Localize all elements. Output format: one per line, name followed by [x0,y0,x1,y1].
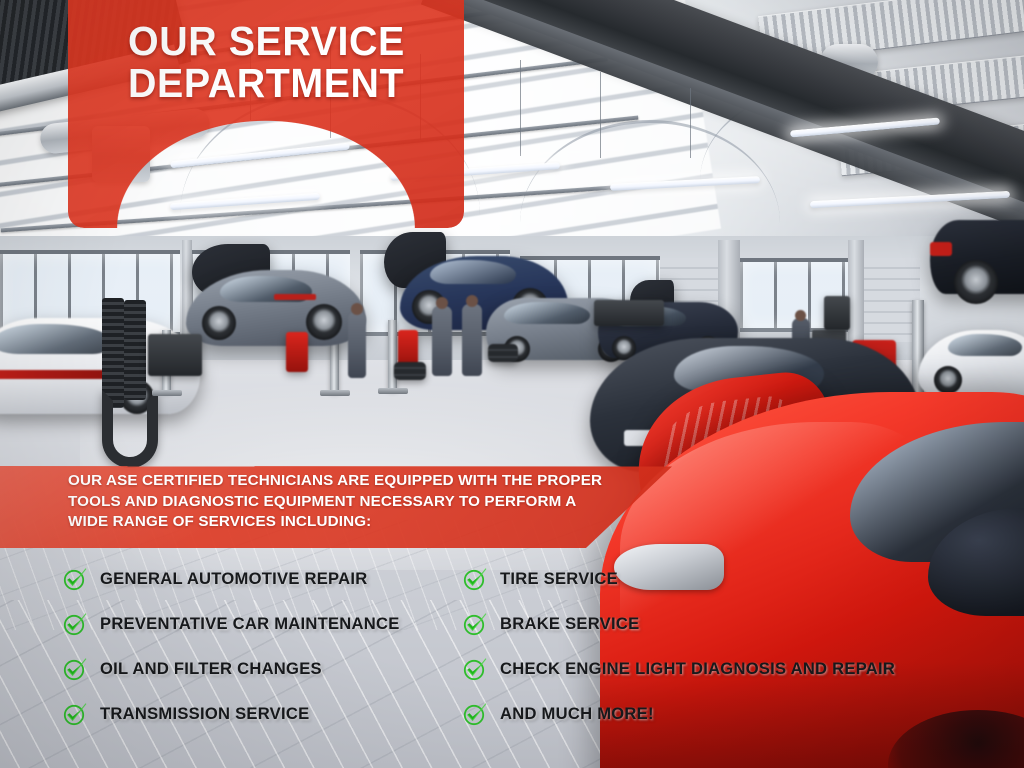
technician-body [462,304,482,376]
page-title-line-1: OUR SERVICE [128,20,445,62]
car-grey-sports-on-lift [186,270,366,346]
duct-hanger [690,88,691,158]
car-window [948,334,1022,356]
car-wheel [954,260,998,304]
duct-hanger [600,72,601,158]
technician-body [432,306,452,376]
green-check-circle-icon [62,611,88,637]
technician [432,306,452,376]
technician [348,312,366,378]
wall-panel [860,258,920,342]
tool-cart-red [286,332,308,372]
technician-head [795,310,806,321]
services-checklist: GENERAL AUTOMOTIVE REPAIR PREVENTATIVE C… [0,556,1024,736]
car-window [504,302,590,324]
technician-head [436,297,448,309]
tire-stack [488,344,518,362]
vehicle-lift-foot [320,390,350,396]
vehicle-lift-foot [152,390,182,396]
list-item-label: OIL AND FILTER CHANGES [100,659,322,679]
technician [462,304,482,376]
list-item-label: BRAKE SERVICE [500,614,639,634]
green-check-circle-icon [462,701,488,727]
list-item-label: AND MUCH MORE! [500,704,654,724]
services-column-left: GENERAL AUTOMOTIVE REPAIR PREVENTATIVE C… [62,556,462,736]
page-title-line-2: DEPARTMENT [128,62,445,104]
tail-light [930,242,952,256]
list-item: BRAKE SERVICE [462,601,1022,646]
car-black-suv-on-lift [930,220,1024,294]
tail-light [274,294,316,300]
tail-light-bar [0,370,112,379]
vehicle-lift-foot [378,388,408,394]
intro-paragraph: OUR ASE CERTIFIED TECHNICIANS ARE EQUIPP… [68,471,608,533]
services-column-right: TIRE SERVICE BRAKE SERVICE [462,556,1022,736]
green-check-circle-icon [462,566,488,592]
vehicle-lift-post [388,320,397,390]
car-white-porsche-right [918,330,1024,398]
green-check-circle-icon [62,566,88,592]
green-check-circle-icon [462,611,488,637]
technician-body [348,312,366,378]
list-item: TIRE SERVICE [462,556,1022,601]
car-wheel [306,304,342,340]
poster-canvas: E3 20 UAJ OUR SERVICE DEPARTMENT OU [0,0,1024,768]
list-item: PREVENTATIVE CAR MAINTENANCE [62,601,462,646]
page-title: OUR SERVICE DEPARTMENT [128,20,445,104]
list-item-label: TIRE SERVICE [500,569,618,589]
list-item: CHECK ENGINE LIGHT DIAGNOSIS AND REPAIR [462,646,1022,691]
car-window [430,260,516,284]
list-item-label: CHECK ENGINE LIGHT DIAGNOSIS AND REPAIR [500,659,895,679]
tool-cart-dark [148,334,202,376]
list-item: OIL AND FILTER CHANGES [62,646,462,691]
green-check-circle-icon [62,701,88,727]
technician-head [351,303,363,315]
exhaust-extraction-hose [124,300,146,400]
car-wheel [934,366,962,394]
list-item: GENERAL AUTOMOTIVE REPAIR [62,556,462,601]
list-item-label: PREVENTATIVE CAR MAINTENANCE [100,614,400,634]
list-item-label: TRANSMISSION SERVICE [100,704,309,724]
car-wheel [202,306,236,340]
equipment-cabinet [824,296,850,330]
green-check-circle-icon [62,656,88,682]
green-check-circle-icon [462,656,488,682]
duct-hanger [520,60,521,156]
tire-stack [394,362,426,380]
technician-head [466,295,478,307]
list-item: TRANSMISSION SERVICE [62,691,462,736]
exhaust-extraction-hose-bend [102,390,158,468]
list-item: AND MUCH MORE! [462,691,1022,736]
list-item-label: GENERAL AUTOMOTIVE REPAIR [100,569,367,589]
tool-bench [594,300,664,326]
